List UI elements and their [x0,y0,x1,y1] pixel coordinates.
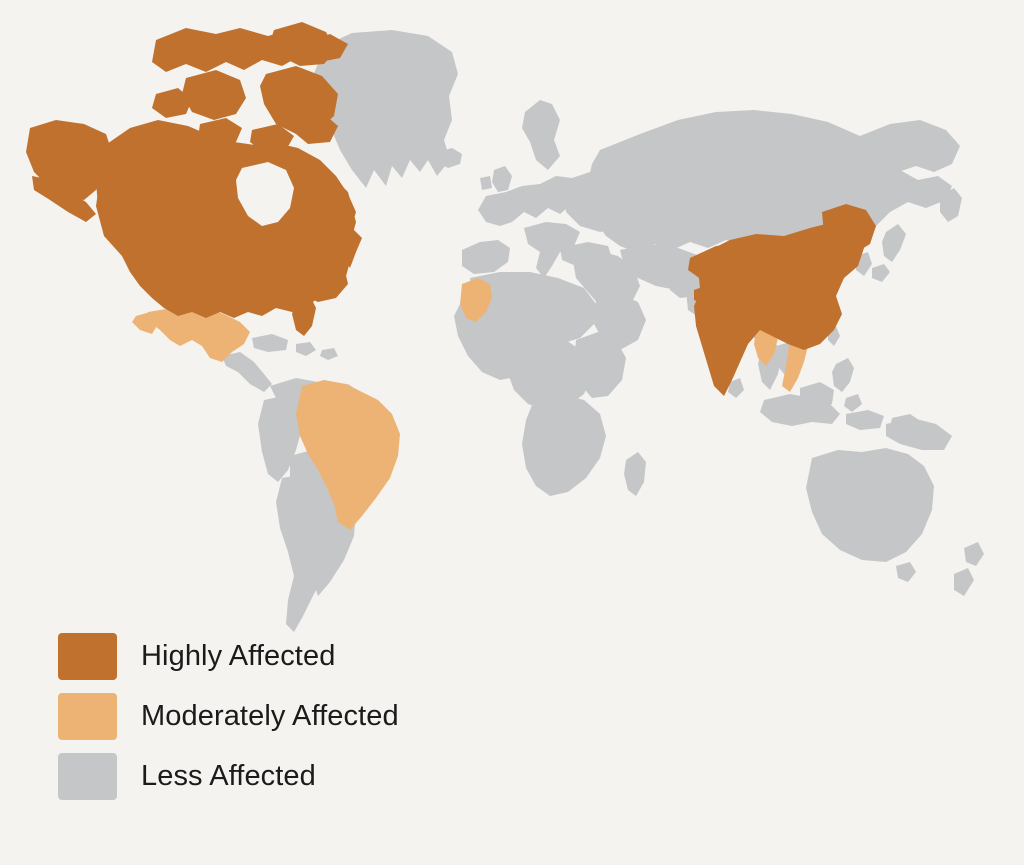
legend-label-less-affected: Less Affected [141,762,316,791]
legend-label-highly-affected: Highly Affected [141,642,335,671]
legend-item-less-affected[interactable]: Less Affected [58,753,399,800]
legend-label-moderately-affected: Moderately Affected [141,702,399,731]
legend-swatch-less-affected [58,753,117,800]
legend-swatch-highly-affected [58,633,117,680]
map-legend: Highly Affected Moderately Affected Less… [58,633,399,800]
legend-item-highly-affected[interactable]: Highly Affected [58,633,399,680]
legend-item-moderately-affected[interactable]: Moderately Affected [58,693,399,740]
legend-swatch-moderately-affected [58,693,117,740]
